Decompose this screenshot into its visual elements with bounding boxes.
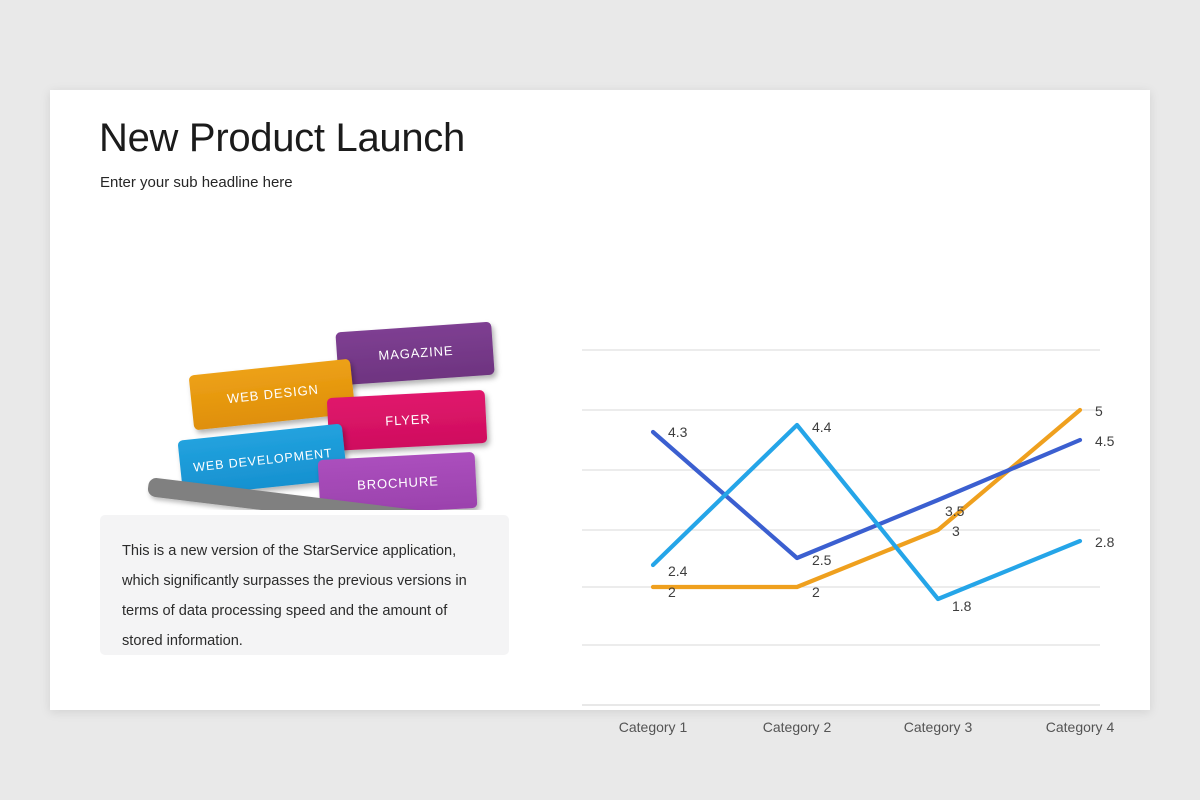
chart-gridlines	[582, 350, 1100, 645]
data-label: 2.4	[668, 563, 688, 579]
illustration-block-magazine: MAGAZINE	[335, 322, 494, 386]
line-chart: 4.3 2.5 3.5 4.5 2.4 4.4 1.8 2.8 2 2 3	[520, 240, 1120, 660]
data-label: 2	[812, 584, 820, 600]
chart-category-labels: Category 1 Category 2 Category 3 Categor…	[619, 719, 1115, 735]
chart-series-2-labels: 2.4 4.4 1.8 2.8	[668, 419, 1115, 614]
data-label: 4.5	[1095, 433, 1115, 449]
chart-series-3-line	[653, 410, 1080, 587]
data-label: 4.4	[812, 419, 832, 435]
slide-canvas: New Product Launch Enter your sub headli…	[0, 0, 1200, 800]
data-label: 2.5	[812, 552, 832, 568]
balance-seesaw-illustration: MAGAZINE WEB DESIGN FLYER WEB DEVELOPMEN…	[90, 220, 510, 510]
chart-series-2-line	[653, 425, 1080, 599]
illustration-block-flyer-label: FLYER	[385, 411, 431, 428]
description-box: This is a new version of the StarService…	[100, 515, 509, 655]
data-label: 2.8	[1095, 534, 1115, 550]
chart-series-1-line	[653, 432, 1080, 558]
data-label: 2	[668, 584, 676, 600]
page-title: New Product Launch	[99, 116, 465, 161]
category-label: Category 1	[619, 719, 688, 735]
data-label: 1.8	[952, 598, 972, 614]
description-text: This is a new version of the StarService…	[122, 537, 483, 657]
category-label: Category 2	[763, 719, 832, 735]
category-label: Category 3	[904, 719, 973, 735]
slide-card: New Product Launch Enter your sub headli…	[50, 90, 1150, 710]
category-label: Category 4	[1046, 719, 1115, 735]
data-label: 3.5	[945, 503, 965, 519]
page-subtitle: Enter your sub headline here	[100, 174, 293, 191]
data-label: 4.3	[668, 424, 688, 440]
illustration-block-flyer: FLYER	[327, 390, 488, 451]
data-label: 3	[952, 523, 960, 539]
chart-series-1-labels: 4.3 2.5 3.5 4.5	[668, 424, 1115, 568]
data-label: 5	[1095, 403, 1103, 419]
